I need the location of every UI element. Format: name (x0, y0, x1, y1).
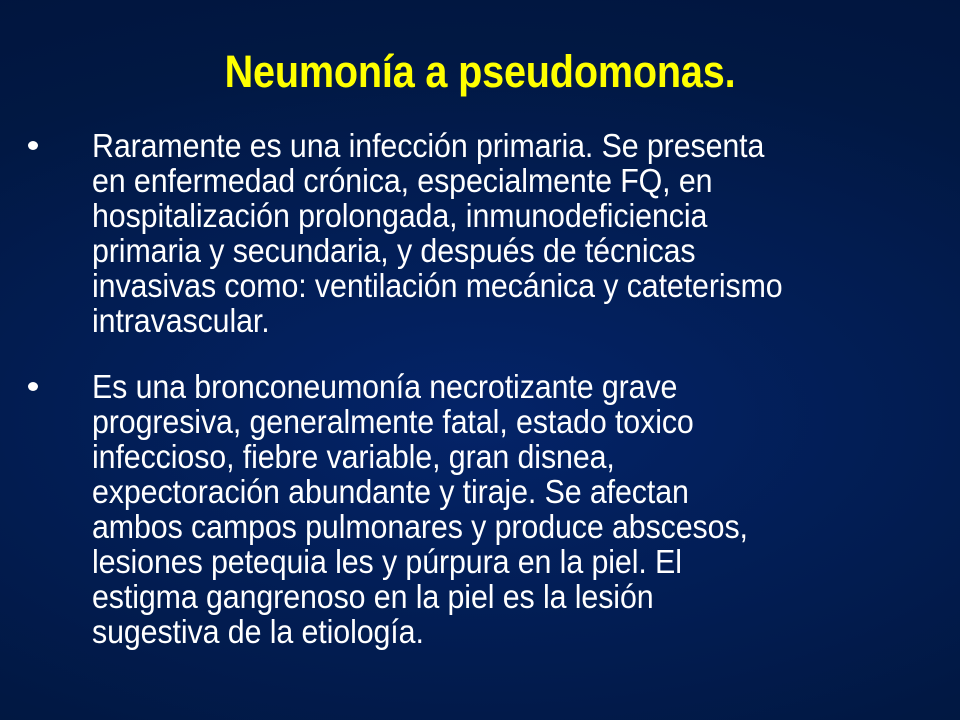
slide-title: Neumonía a pseudomonas. (58, 46, 903, 98)
bullet-dot-icon (28, 141, 38, 150)
bullet-dot-icon (28, 382, 38, 391)
bullet-text: Raramente es una infección primaria. Se … (92, 128, 891, 338)
slide-body: Raramente es una infección primaria. Se … (0, 128, 960, 649)
presentation-slide: Neumonía a pseudomonas. Raramente es una… (0, 0, 960, 720)
bullet-item: Es una bronconeumonía necrotizante grave… (0, 369, 960, 649)
bullet-item: Raramente es una infección primaria. Se … (0, 128, 960, 338)
slide-content: Neumonía a pseudomonas. Raramente es una… (0, 0, 960, 720)
bullet-text: Es una bronconeumonía necrotizante grave… (92, 369, 891, 649)
